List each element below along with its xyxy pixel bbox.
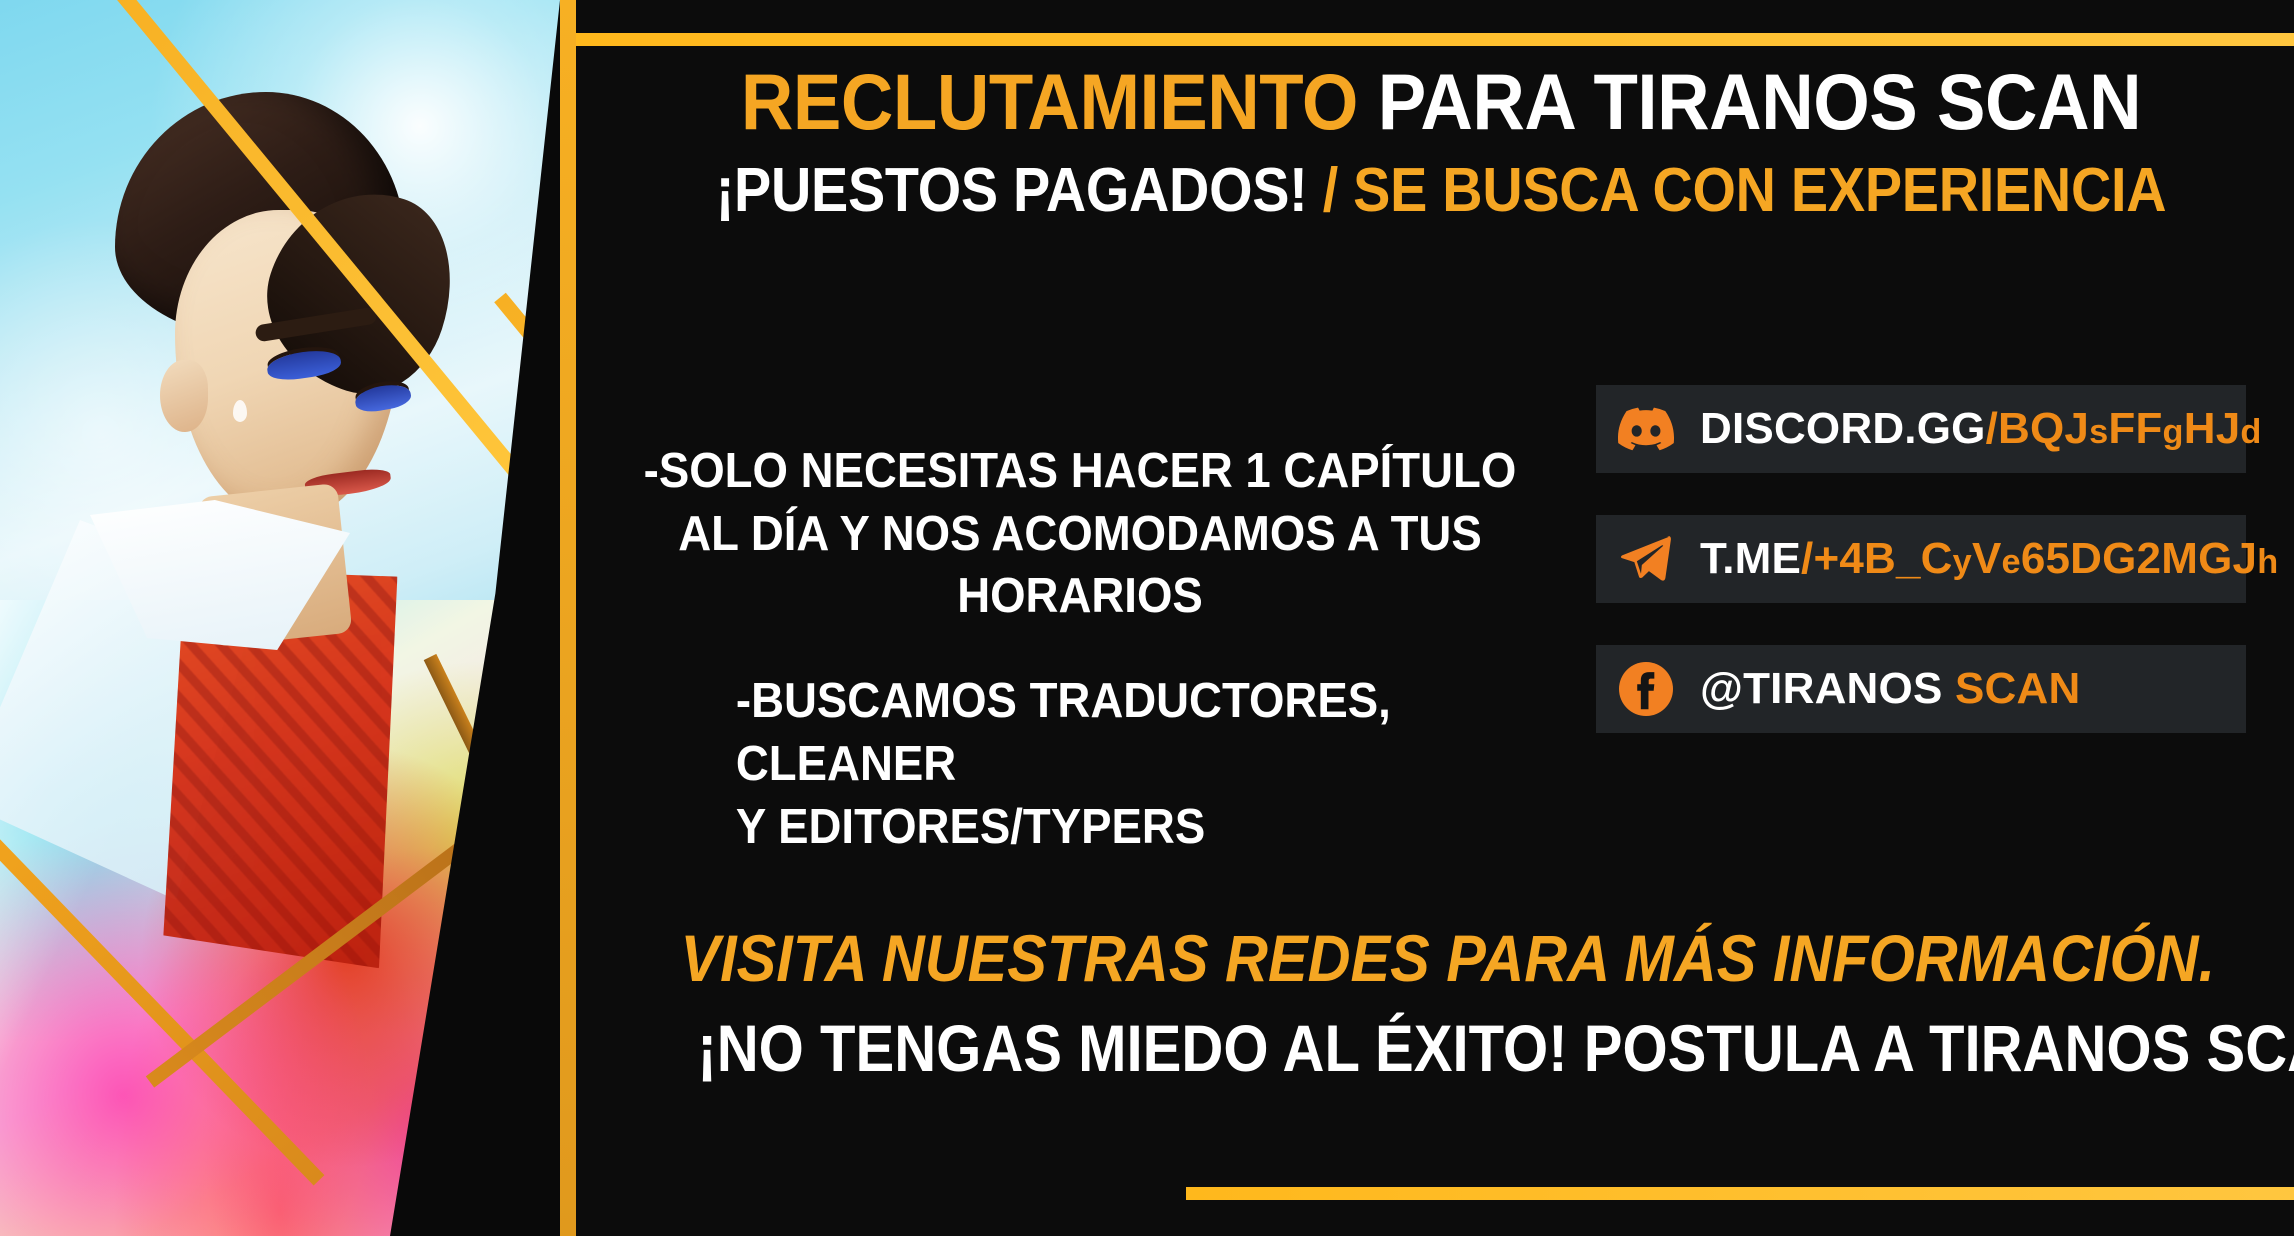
gold-vertical-bar	[560, 0, 576, 1236]
subtitle-paid: ¡PUESTOS PAGADOS!	[716, 156, 1308, 225]
telegram-invite-code: /+4B_CyVe65DG2MGJh	[1801, 534, 2278, 583]
discord-invite-code: /BQJsFFgHJd	[1986, 404, 2262, 453]
contact-links: DISCORD.GG/BQJsFFgHJd T.ME/+4B_CyVe65DG2…	[1596, 385, 2246, 775]
title-rest: PARA TIRANOS SCAN	[1358, 57, 2141, 146]
requirement-roles: -BUSCAMOS TRADUCTORES, CLEANER Y EDITORE…	[634, 670, 1527, 858]
facebook-label: @TIRANOS SCAN	[1700, 664, 2080, 714]
requirements-text: -SOLO NECESITAS HACER 1 CAPÍTULO AL DÍA …	[634, 440, 1527, 858]
telegram-link[interactable]: T.ME/+4B_CyVe65DG2MGJh	[1596, 515, 2246, 603]
character-artwork	[0, 0, 560, 1236]
page-title: RECLUTAMIENTO PARA TIRANOS SCAN	[664, 62, 2219, 143]
subtitle: ¡PUESTOS PAGADOS! / SE BUSCA CON EXPERIE…	[681, 158, 2202, 223]
telegram-icon	[1618, 531, 1674, 587]
gold-rule-top	[576, 33, 2294, 46]
cta-visit-networks: VISITA NUESTRAS REDES PARA MÁS INFORMACI…	[681, 920, 2202, 996]
discord-domain: DISCORD.GG	[1700, 404, 1986, 453]
discord-label: DISCORD.GG/BQJsFFgHJd	[1700, 404, 2262, 454]
discord-icon	[1618, 401, 1674, 457]
character-ear	[160, 360, 208, 432]
cta-apply: ¡NO TENGAS MIEDO AL ÉXITO! POSTULA A TIR…	[697, 1010, 2184, 1086]
facebook-handle: @TIRANOS	[1700, 664, 1943, 713]
character-sweat-drop	[233, 400, 247, 422]
subtitle-experience: / SE BUSCA CON EXPERIENCIA	[1307, 156, 2166, 225]
discord-link[interactable]: DISCORD.GG/BQJsFFgHJd	[1596, 385, 2246, 473]
telegram-label: T.ME/+4B_CyVe65DG2MGJh	[1700, 534, 2278, 584]
telegram-domain: T.ME	[1700, 534, 1801, 583]
facebook-link[interactable]: @TIRANOS SCAN	[1596, 645, 2246, 733]
roles-line-1: -BUSCAMOS TRADUCTORES, CLEANER	[736, 670, 1526, 795]
gold-rule-bottom	[1186, 1187, 2294, 1200]
facebook-icon	[1618, 661, 1674, 717]
recruitment-banner: RECLUTAMIENTO PARA TIRANOS SCAN ¡PUESTOS…	[0, 0, 2294, 1236]
roles-line-2: Y EDITORES/TYPERS	[736, 796, 1526, 859]
facebook-handle-suffix: SCAN	[1955, 664, 2080, 713]
title-highlight: RECLUTAMIENTO	[741, 57, 1358, 146]
requirement-schedule: -SOLO NECESITAS HACER 1 CAPÍTULO AL DÍA …	[634, 440, 1527, 628]
